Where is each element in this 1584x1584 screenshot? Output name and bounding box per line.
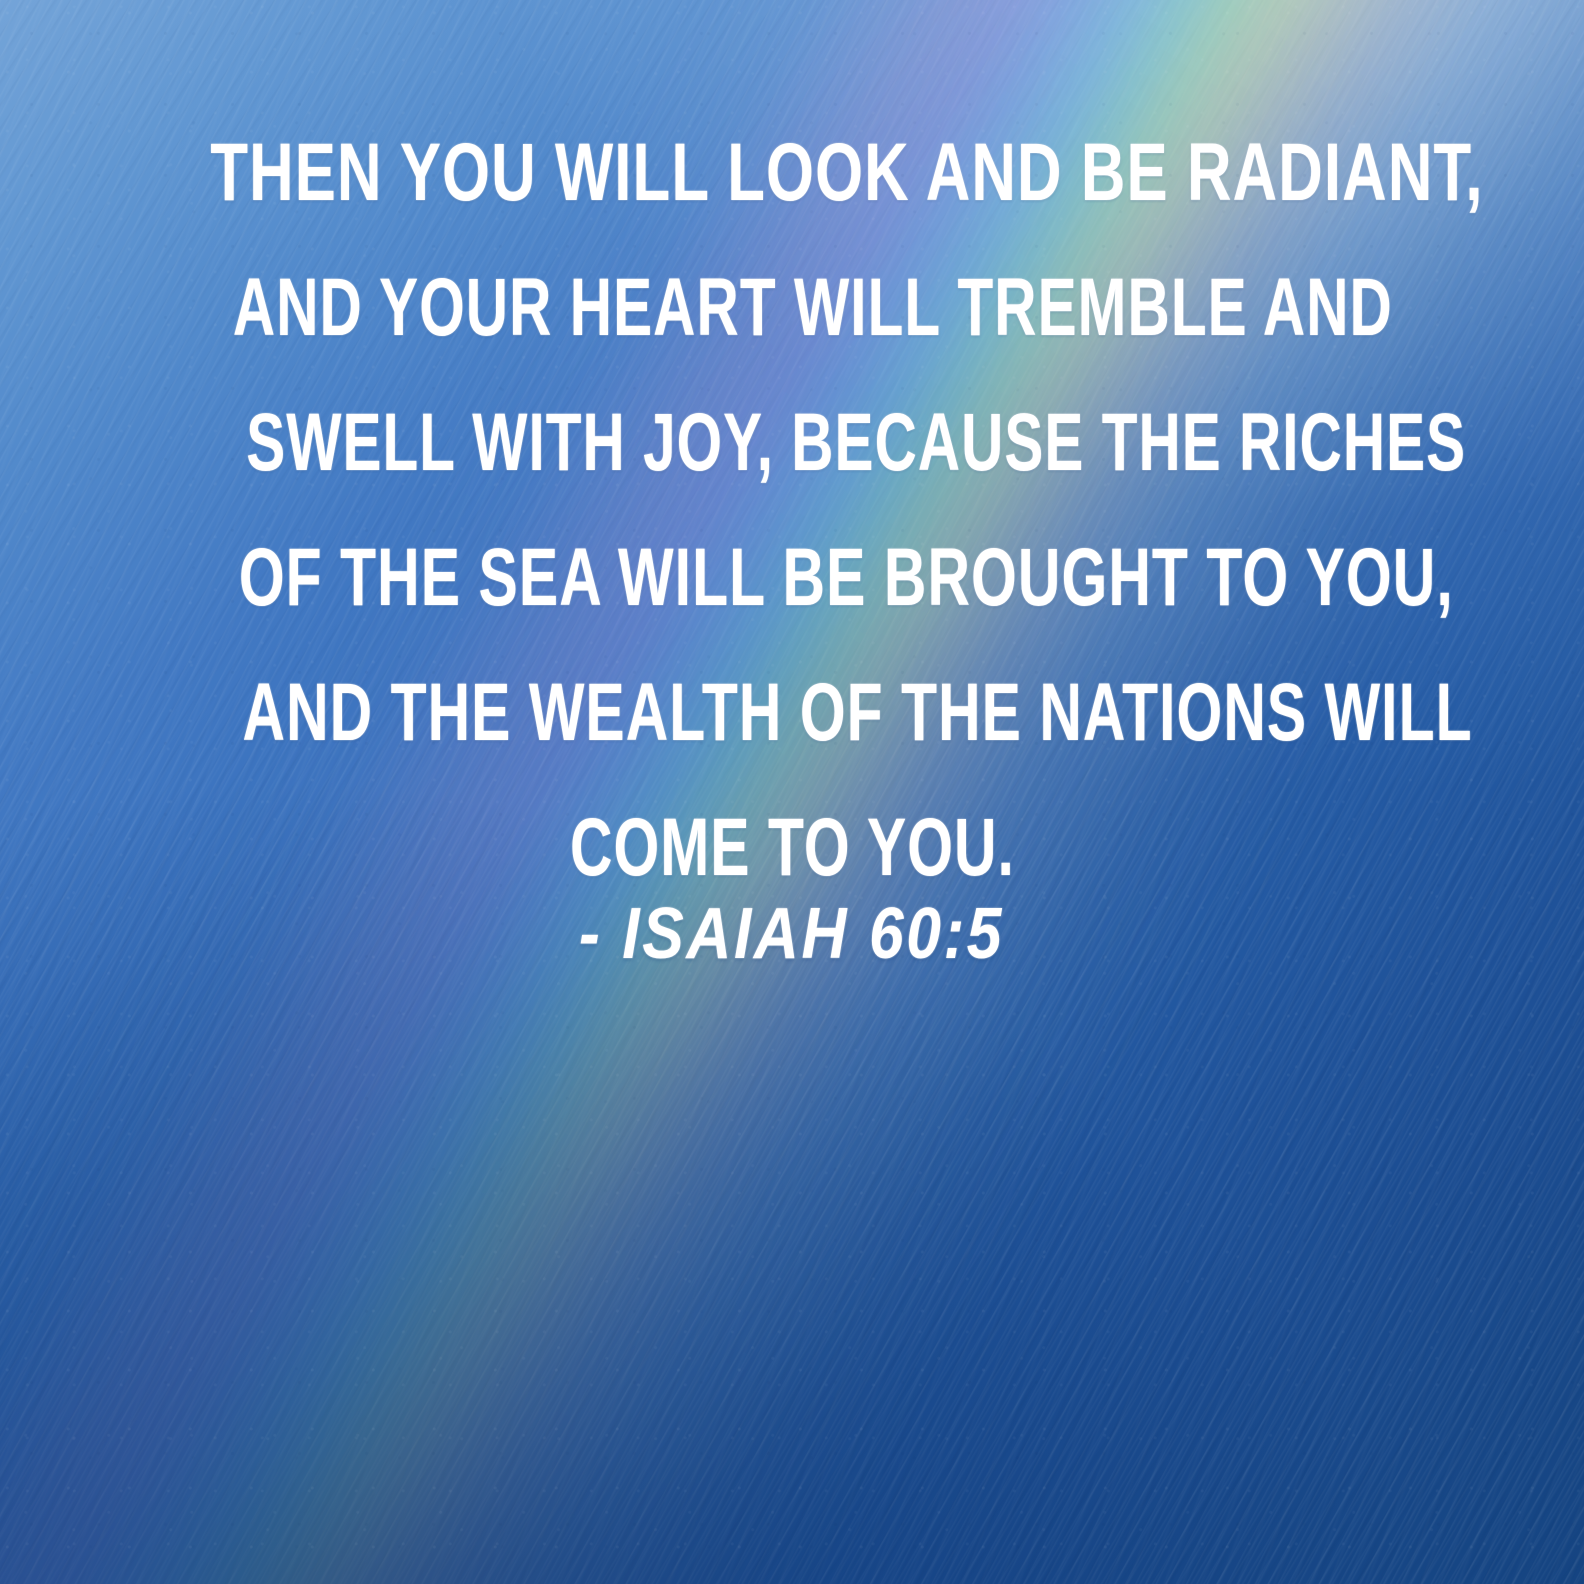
line-gap: [0, 619, 1584, 672]
line-gap: [0, 754, 1584, 807]
verse-line-5: AND THE WEALTH OF THE NATIONS WILL: [243, 672, 1473, 754]
verse-attribution: - ISAIAH 60:5: [0, 893, 1584, 975]
verse-line-2: AND YOUR HEART WILL TREMBLE AND: [233, 267, 1393, 349]
verse-line-4: OF THE SEA WILL BE BROUGHT TO YOU,: [239, 537, 1454, 619]
scripture-quote-card: THEN YOU WILL LOOK AND BE RADIANT, AND Y…: [0, 0, 1584, 1584]
line-gap: [0, 484, 1584, 537]
verse-line-1: THEN YOU WILL LOOK AND BE RADIANT,: [210, 132, 1483, 214]
verse-line-6: COME TO YOU.: [570, 807, 1015, 889]
line-gap: [0, 214, 1584, 267]
line-gap: [0, 349, 1584, 402]
verse-line-3: SWELL WITH JOY, BECAUSE THE RICHES: [246, 402, 1466, 484]
verse-text-block: THEN YOU WILL LOOK AND BE RADIANT, AND Y…: [0, 132, 1584, 889]
